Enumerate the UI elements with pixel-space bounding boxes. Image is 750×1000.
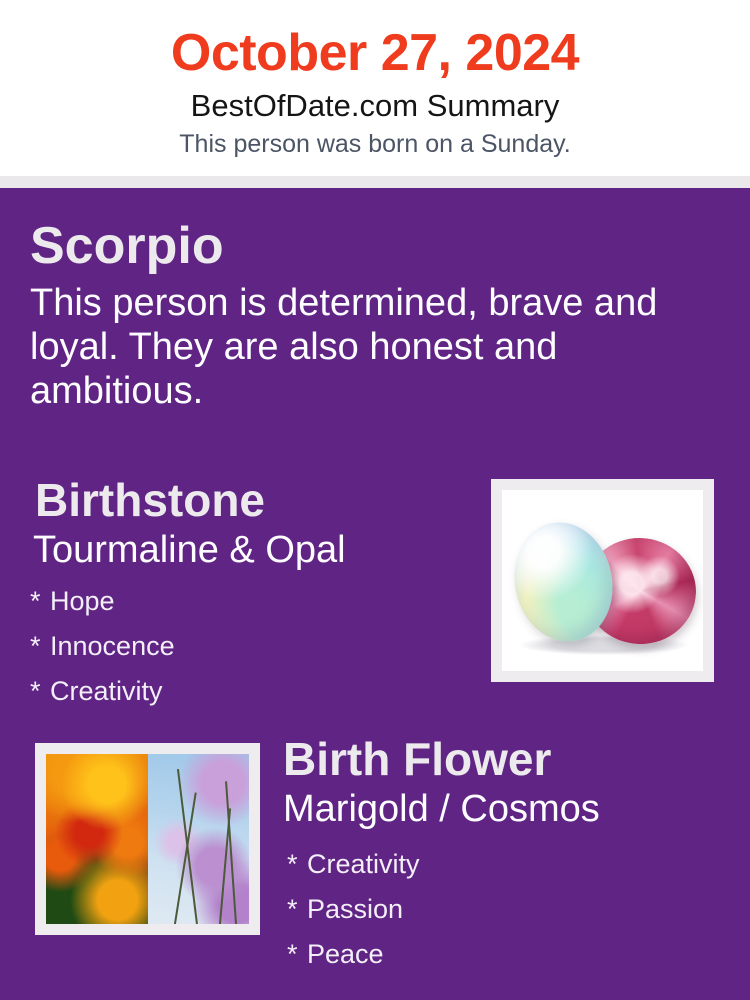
flower-illustration — [46, 754, 249, 924]
birth-flower-title: Birth Flower — [283, 732, 723, 786]
page-title-date: October 27, 2024 — [0, 22, 750, 84]
birth-flower-trait-label: Creativity — [307, 849, 420, 879]
day-of-week-line: This person was born on a Sunday. — [0, 128, 750, 160]
birthstone-trait-list: *Hope *Innocence *Creativity — [30, 579, 480, 714]
content-panel: Scorpio This person is determined, brave… — [0, 188, 750, 1000]
bullet-asterisk: * — [30, 579, 50, 624]
header-divider — [0, 176, 750, 188]
birthstone-trait-label: Hope — [50, 586, 115, 616]
list-item: *Innocence — [30, 624, 480, 669]
zodiac-description: This person is determined, brave and loy… — [30, 277, 690, 413]
birth-flower-image — [46, 754, 249, 924]
bullet-asterisk: * — [30, 669, 50, 714]
list-item: *Peace — [287, 932, 723, 977]
summary-card: October 27, 2024 BestOfDate.com Summary … — [0, 0, 750, 1000]
bullet-asterisk: * — [30, 624, 50, 669]
header: October 27, 2024 BestOfDate.com Summary … — [0, 0, 750, 176]
list-item: *Creativity — [287, 842, 723, 887]
list-item: *Passion — [287, 887, 723, 932]
birth-flower-trait-label: Passion — [307, 894, 403, 924]
list-item: *Creativity — [30, 669, 480, 714]
birthstone-title: Birthstone — [35, 473, 480, 527]
birthstone-image — [502, 490, 703, 671]
birth-flower-section: Birth Flower Marigold / Cosmos *Creativi… — [283, 732, 723, 977]
gemstone-illustration — [502, 490, 703, 671]
marigold-flower-icon — [46, 754, 148, 924]
bullet-asterisk: * — [287, 842, 307, 887]
birth-flower-trait-label: Peace — [307, 939, 384, 969]
bullet-asterisk: * — [287, 932, 307, 977]
birthstone-trait-label: Innocence — [50, 631, 175, 661]
cosmos-flower-icon — [148, 754, 250, 924]
birthstone-section: Birthstone Tourmaline & Opal *Hope *Inno… — [30, 473, 480, 714]
birthstone-image-frame — [491, 479, 714, 682]
birth-flower-image-frame — [35, 743, 260, 935]
birth-flower-name: Marigold / Cosmos — [283, 786, 723, 832]
zodiac-section: Scorpio This person is determined, brave… — [30, 215, 720, 413]
bullet-asterisk: * — [287, 887, 307, 932]
site-name: BestOfDate.com Summary — [0, 87, 750, 125]
birthstone-trait-label: Creativity — [50, 676, 163, 706]
birthstone-name: Tourmaline & Opal — [33, 527, 480, 573]
birth-flower-trait-list: *Creativity *Passion *Peace — [287, 842, 723, 977]
zodiac-sign-name: Scorpio — [30, 215, 720, 277]
list-item: *Hope — [30, 579, 480, 624]
